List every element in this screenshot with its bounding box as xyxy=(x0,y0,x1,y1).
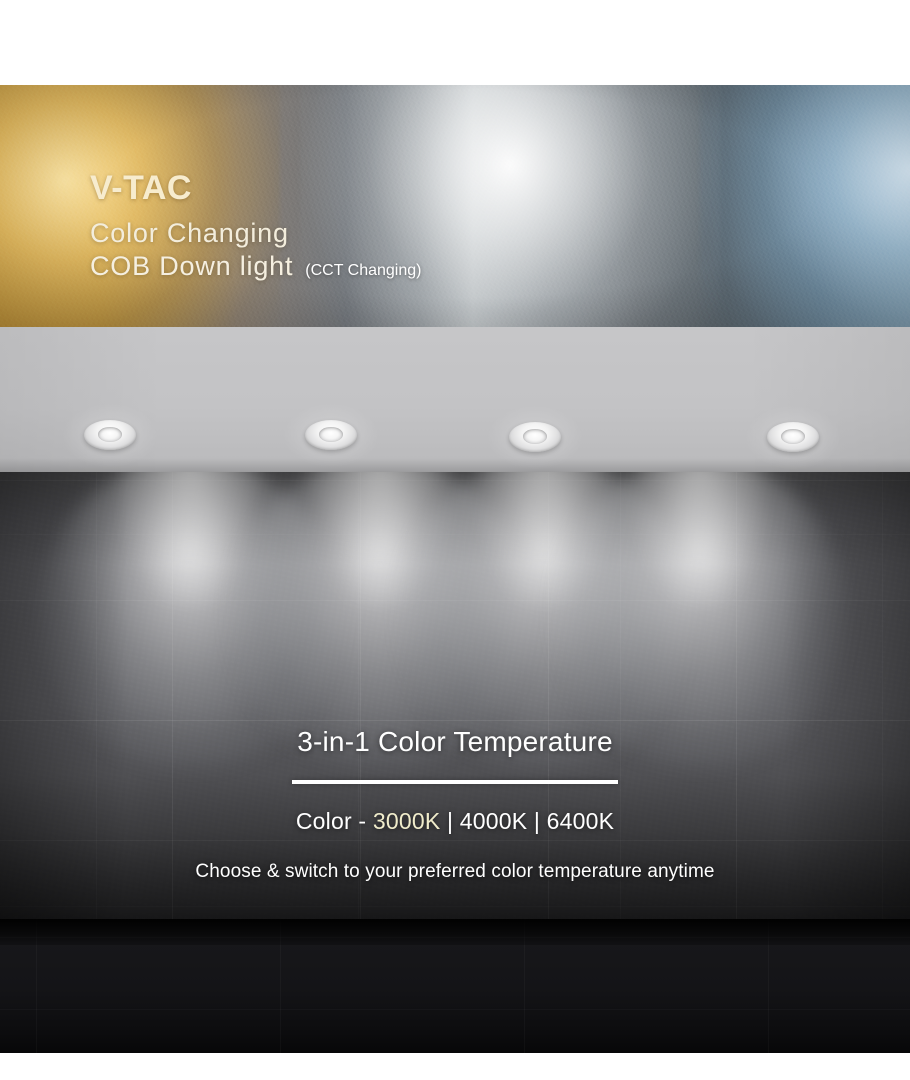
tagline-line-2: COB Down light xyxy=(90,252,293,281)
floor-surface xyxy=(0,919,910,1053)
overlay-divider-rule xyxy=(292,780,618,784)
temperature-value-6400k: 6400K xyxy=(547,808,615,834)
overlay-caption: Choose & switch to your preferred color … xyxy=(0,861,910,883)
room-scene: 3-in-1 Color Temperature Color - 3000K |… xyxy=(0,327,910,1053)
tagline-subnote-cct: (CCT Changing) xyxy=(305,262,421,280)
downlight-fixture-icon-1 xyxy=(84,420,136,450)
header-banner: V-TAC Color Changing COB Down light (CCT… xyxy=(0,85,910,327)
overlay-color-temperature-line: Color - 3000K | 4000K | 6400K xyxy=(0,808,910,835)
floor-contact-shadow xyxy=(0,919,910,945)
tagline-line-1: Color Changing xyxy=(90,219,421,248)
tagline-line-2-row: COB Down light (CCT Changing) xyxy=(90,252,421,281)
overlay-headline: 3-in-1 Color Temperature xyxy=(0,727,910,758)
banner-text-block: V-TAC Color Changing COB Down light (CCT… xyxy=(90,171,421,281)
ceiling-wall-edge xyxy=(0,458,910,472)
brand-logo-vtac: V-TAC xyxy=(90,171,421,205)
temperature-value-4000k: 4000K xyxy=(460,808,528,834)
color-label: Color - xyxy=(296,808,373,834)
temperature-separator-1: | xyxy=(440,808,459,834)
temperature-separator-2: | xyxy=(527,808,546,834)
overlay-text-block: 3-in-1 Color Temperature Color - 3000K |… xyxy=(0,727,910,883)
temperature-value-3000k: 3000K xyxy=(373,808,441,834)
downlight-fixture-icon-3 xyxy=(509,422,561,452)
product-marketing-image: V-TAC Color Changing COB Down light (CCT… xyxy=(0,0,910,1080)
downlight-fixture-icon-2 xyxy=(305,420,357,450)
downlight-fixture-icon-4 xyxy=(767,422,819,452)
